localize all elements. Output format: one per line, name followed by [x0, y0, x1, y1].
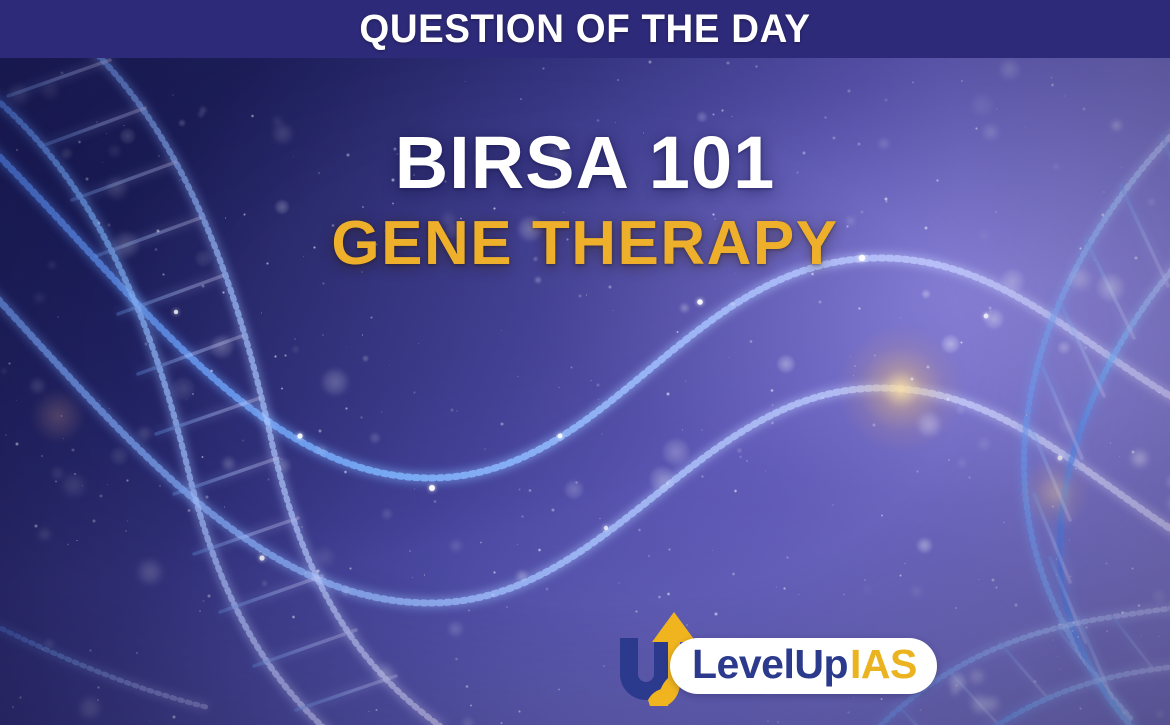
levelup-ias-logo[interactable]: LevelUp IAS [612, 596, 972, 708]
question-of-the-day-poster: QUESTION OF THE DAY [0, 0, 1170, 725]
logo-word-levelup: LevelUp [692, 644, 848, 685]
logo-word-ias: IAS [850, 644, 917, 685]
header-bar: QUESTION OF THE DAY [0, 0, 1170, 58]
logo-wordmark-pill: LevelUp IAS [670, 638, 937, 694]
background-vignette [0, 58, 1170, 725]
hero-background [0, 58, 1170, 725]
header-title: QUESTION OF THE DAY [359, 9, 810, 49]
